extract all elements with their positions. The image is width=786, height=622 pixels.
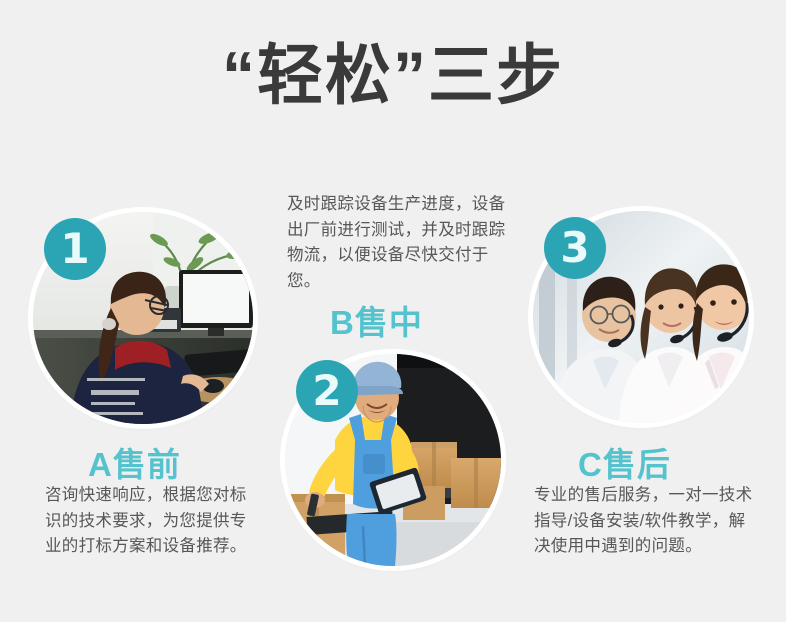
step-heading-a: A售前 (88, 438, 181, 486)
step-body-a: 咨询快速响应，根据您对标识的技术要求，为您提供专业的打标方案和设备推荐。 (45, 483, 260, 560)
step-number-badge-1: 1 (44, 218, 106, 280)
step-body-c: 专业的售后服务，一对一技术指导/设备安装/软件教学，解决使用中遇到的问题。 (534, 483, 756, 560)
page-title: “轻松”三步 (0, 34, 786, 117)
step-heading-b: B售中 (330, 296, 423, 344)
step-number-badge-2: 2 (296, 360, 358, 422)
step-body-b: 及时跟踪设备生产进度，设备出厂前进行测试，并及时跟踪物流，以便设备尽快交付于您。 (287, 192, 507, 294)
step-heading-c: C售后 (578, 438, 671, 486)
step-number-badge-3: 3 (544, 217, 606, 279)
